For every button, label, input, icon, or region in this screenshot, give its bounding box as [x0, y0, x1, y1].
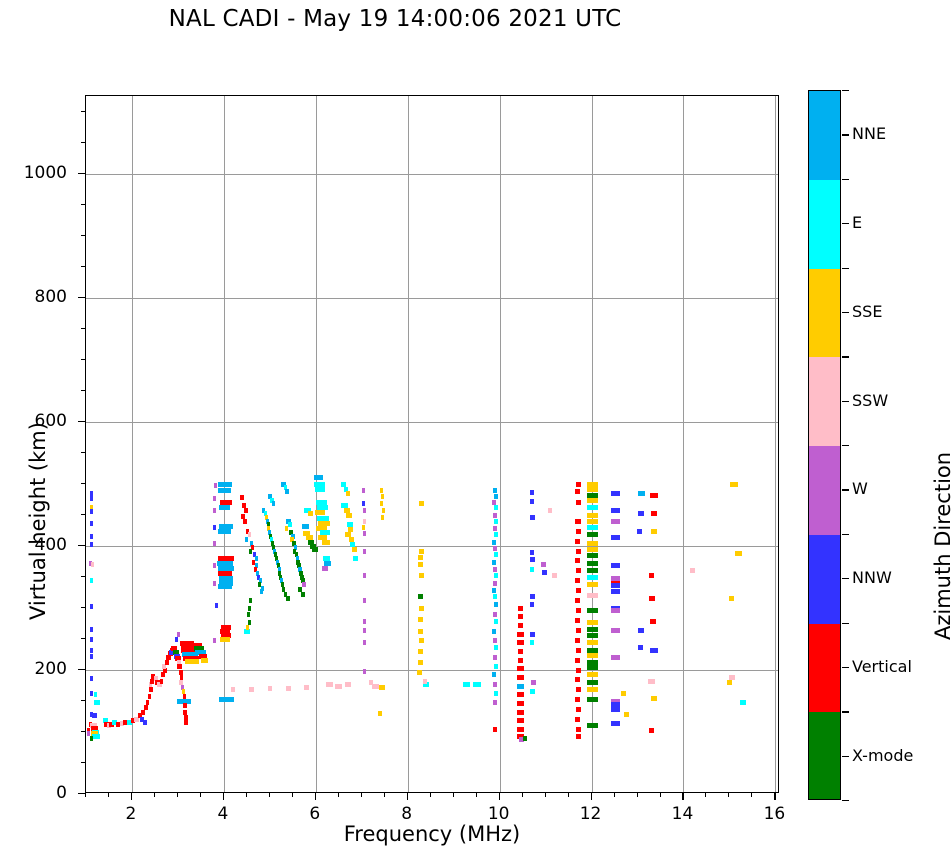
data-point	[493, 727, 497, 732]
y-tick-minor	[81, 142, 85, 143]
colorbar-label: Vertical	[852, 657, 912, 676]
data-point	[576, 707, 581, 712]
data-point	[740, 700, 746, 705]
data-point	[362, 488, 365, 493]
data-point	[94, 700, 100, 705]
data-point	[380, 488, 383, 493]
data-point	[494, 602, 498, 607]
x-tick-minor	[430, 793, 431, 797]
data-point	[244, 508, 248, 513]
data-point	[493, 638, 497, 643]
data-point	[144, 705, 148, 710]
data-point	[576, 648, 581, 653]
x-tick-major	[407, 793, 408, 800]
data-point	[587, 487, 597, 492]
data-point	[517, 684, 523, 689]
data-point	[146, 700, 150, 705]
data-point	[611, 589, 620, 594]
data-point	[735, 551, 741, 556]
data-point	[611, 535, 620, 540]
data-point	[363, 508, 366, 513]
data-point	[530, 499, 535, 504]
data-point	[493, 488, 497, 493]
data-point	[213, 508, 216, 513]
data-point	[322, 540, 330, 545]
data-point	[252, 560, 255, 565]
data-point	[494, 505, 498, 510]
data-point	[517, 675, 523, 680]
data-point	[611, 508, 620, 513]
data-point	[285, 526, 289, 531]
data-point	[378, 711, 383, 716]
data-layer	[86, 96, 778, 792]
data-point	[587, 723, 597, 728]
data-point	[493, 581, 497, 586]
data-point	[248, 606, 251, 611]
colorbar-label: SSW	[852, 391, 888, 410]
data-point	[727, 680, 733, 685]
x-tick-major	[223, 793, 224, 800]
colorbar-segment	[809, 712, 840, 800]
colorbar-tick	[842, 312, 849, 313]
data-point	[90, 534, 93, 539]
x-axis-title: Frequency (MHz)	[85, 822, 779, 846]
data-point	[518, 623, 524, 628]
data-point	[143, 720, 147, 725]
data-point	[148, 694, 152, 699]
data-point	[587, 532, 597, 537]
y-tick-minor	[81, 235, 85, 236]
data-point	[587, 541, 597, 546]
data-point	[285, 489, 289, 494]
data-point	[548, 508, 552, 513]
y-tick-minor	[81, 576, 85, 577]
x-tick-minor	[568, 793, 569, 797]
x-tick-major	[591, 793, 592, 800]
data-point	[213, 563, 216, 568]
data-point	[214, 483, 217, 488]
x-tick-minor	[522, 793, 523, 797]
data-point	[94, 692, 97, 697]
y-tick-minor	[81, 452, 85, 453]
x-tick-major	[774, 793, 775, 800]
data-point	[301, 592, 305, 597]
colorbar-segment	[809, 91, 840, 180]
data-point	[649, 596, 655, 601]
x-tick-minor	[660, 793, 661, 797]
x-tick-minor	[751, 793, 752, 797]
data-point	[418, 594, 423, 599]
colorbar-boundary-tick	[842, 534, 849, 535]
x-tick-minor	[292, 793, 293, 797]
x-tick-label: 2	[101, 804, 161, 824]
data-point	[288, 522, 292, 527]
data-point	[637, 529, 643, 534]
data-point	[493, 526, 497, 531]
data-point	[346, 513, 352, 518]
data-point	[587, 697, 597, 702]
data-point	[419, 638, 424, 643]
data-point	[575, 618, 580, 623]
x-tick-minor	[453, 793, 454, 797]
colorbar-label: X-mode	[852, 746, 913, 765]
data-point	[650, 648, 657, 653]
data-point	[220, 637, 230, 642]
data-point	[517, 692, 523, 697]
x-tick-minor	[705, 793, 706, 797]
data-point	[90, 496, 93, 501]
data-point	[518, 606, 524, 611]
data-point	[268, 686, 273, 691]
data-point	[248, 620, 251, 625]
data-point	[185, 659, 199, 664]
y-tick-minor	[81, 731, 85, 732]
data-point	[90, 676, 93, 681]
data-point	[322, 566, 328, 571]
data-point	[587, 575, 597, 580]
data-point	[149, 687, 153, 692]
data-point	[492, 588, 496, 593]
colorbar-segment	[809, 624, 840, 713]
x-tick-label: 8	[377, 804, 437, 824]
data-point	[531, 680, 536, 685]
data-point	[638, 491, 645, 496]
data-point	[576, 734, 581, 739]
data-point	[243, 519, 247, 524]
data-point	[352, 547, 357, 552]
data-point	[308, 511, 314, 516]
data-point	[494, 691, 498, 696]
data-point	[494, 645, 498, 650]
data-point	[218, 584, 232, 589]
data-point	[161, 672, 165, 677]
colorbar-tick	[842, 578, 849, 579]
data-point	[611, 608, 620, 613]
data-point	[302, 582, 306, 587]
data-point	[87, 731, 90, 736]
x-tick-minor	[728, 793, 729, 797]
data-point	[218, 488, 231, 493]
colorbar-label: NNE	[852, 124, 886, 143]
data-point	[611, 583, 620, 588]
data-point	[363, 519, 366, 524]
data-point	[492, 540, 496, 545]
data-point	[493, 700, 497, 705]
data-point	[345, 682, 351, 687]
data-point	[542, 570, 547, 575]
x-tick-minor	[614, 793, 615, 797]
data-point	[729, 596, 735, 601]
data-point	[587, 672, 597, 677]
data-point	[611, 721, 620, 726]
data-point	[363, 669, 366, 674]
data-point	[183, 703, 187, 708]
data-point	[423, 679, 428, 684]
data-point	[380, 501, 383, 506]
data-point	[611, 491, 620, 496]
data-point	[201, 658, 208, 663]
data-point	[530, 689, 535, 694]
x-tick-label: 16	[744, 804, 804, 824]
y-tick-label: 200	[7, 659, 67, 679]
colorbar-tick	[842, 489, 849, 490]
data-point	[177, 664, 182, 669]
data-point	[492, 672, 496, 677]
x-tick-major	[315, 793, 316, 800]
data-point	[492, 560, 496, 565]
data-point	[576, 668, 581, 673]
colorbar-boundary-tick	[842, 445, 849, 446]
data-point	[231, 687, 236, 692]
data-point	[175, 637, 178, 642]
data-point	[587, 505, 597, 510]
y-tick-label: 1000	[7, 163, 67, 183]
data-point	[530, 640, 535, 645]
data-point	[576, 687, 581, 692]
data-point	[494, 532, 498, 537]
colorbar-tick	[842, 401, 849, 402]
y-tick-label: 0	[7, 783, 67, 803]
data-point	[587, 553, 597, 558]
data-point	[213, 541, 216, 546]
data-point	[576, 500, 581, 505]
data-point	[419, 573, 424, 578]
colorbar-segment	[809, 180, 840, 269]
data-point	[587, 680, 597, 685]
data-point	[494, 664, 498, 669]
data-point	[587, 513, 597, 518]
data-point	[587, 665, 597, 670]
data-point	[247, 612, 250, 617]
data-point	[587, 627, 597, 632]
data-point	[575, 539, 580, 544]
data-point	[382, 508, 385, 513]
y-tick-major	[78, 793, 85, 794]
data-point	[245, 537, 248, 542]
y-tick-major	[78, 173, 85, 174]
data-point	[248, 532, 251, 537]
data-point	[690, 568, 696, 573]
x-tick-minor	[177, 793, 178, 797]
data-point	[312, 547, 318, 552]
data-point	[90, 521, 93, 526]
data-point	[362, 501, 365, 506]
colorbar-boundary-tick	[842, 356, 849, 357]
y-tick-major	[78, 545, 85, 546]
data-point	[249, 549, 252, 554]
data-point	[575, 558, 580, 563]
data-point	[213, 496, 216, 501]
data-point	[272, 501, 276, 506]
data-point	[493, 655, 497, 660]
data-point	[90, 654, 93, 659]
x-tick-label: 4	[193, 804, 253, 824]
y-tick-minor	[81, 607, 85, 608]
y-tick-minor	[81, 266, 85, 267]
x-tick-major	[682, 793, 683, 800]
data-point	[372, 684, 378, 689]
data-point	[517, 727, 523, 732]
x-tick-minor	[154, 793, 155, 797]
colorbar-boundary-tick	[842, 90, 849, 91]
data-point	[381, 494, 384, 499]
data-point	[576, 568, 581, 573]
data-point	[240, 495, 244, 500]
ionogram-figure: NAL CADI - May 19 14:00:06 2021 UTC 2468…	[0, 0, 951, 856]
data-point	[418, 660, 423, 665]
data-point	[494, 573, 498, 578]
y-tick-minor	[81, 359, 85, 360]
data-point	[530, 602, 535, 607]
data-point	[302, 524, 308, 529]
colorbar-tick	[842, 667, 849, 668]
plot-area	[85, 95, 779, 793]
data-point	[463, 682, 470, 687]
data-point	[90, 509, 93, 514]
data-point	[611, 628, 620, 633]
data-point	[576, 727, 581, 732]
x-tick-major	[131, 793, 132, 800]
data-point	[611, 655, 620, 660]
x-tick-label: 10	[469, 804, 529, 824]
colorbar-tick	[842, 756, 849, 757]
data-point	[650, 619, 656, 624]
data-point	[246, 625, 249, 630]
data-point	[363, 628, 366, 633]
x-tick-minor	[476, 793, 477, 797]
data-point	[575, 638, 580, 643]
y-axis-title: Virtual height (km)	[26, 422, 50, 620]
y-tick-minor	[81, 204, 85, 205]
x-tick-minor	[361, 793, 362, 797]
y-tick-minor	[81, 514, 85, 515]
x-tick-minor	[200, 793, 201, 797]
data-point	[362, 525, 365, 530]
data-point	[649, 573, 655, 578]
data-point	[587, 687, 597, 692]
data-point	[517, 666, 523, 671]
data-point	[379, 685, 385, 690]
data-point	[518, 614, 524, 619]
data-point	[381, 515, 384, 520]
data-point	[651, 696, 657, 701]
data-point	[315, 487, 325, 492]
colorbar-boundary-tick	[842, 711, 849, 712]
data-point	[517, 632, 523, 637]
x-tick-minor	[384, 793, 385, 797]
data-point	[363, 573, 366, 578]
colorbar-tick	[842, 134, 849, 135]
y-tick-major	[78, 421, 85, 422]
data-point	[335, 684, 342, 689]
x-tick-minor	[269, 793, 270, 797]
data-point	[363, 619, 366, 624]
data-point	[518, 658, 524, 663]
data-point	[611, 707, 620, 712]
data-point	[218, 482, 232, 487]
colorbar-title: Azimuth Direction	[931, 452, 951, 640]
data-point	[249, 687, 254, 692]
colorbar-segment	[809, 535, 840, 624]
data-point	[418, 649, 423, 654]
y-tick-minor	[81, 328, 85, 329]
data-point	[90, 542, 93, 547]
data-point	[419, 501, 425, 506]
data-point	[473, 682, 481, 687]
data-point	[165, 660, 169, 665]
data-point	[219, 697, 235, 702]
data-point	[177, 632, 180, 637]
data-point	[419, 549, 425, 554]
y-tick-minor	[81, 390, 85, 391]
data-point	[249, 598, 252, 603]
data-point	[90, 637, 93, 642]
data-point	[218, 529, 231, 534]
data-point	[90, 648, 93, 653]
data-point	[638, 645, 644, 650]
data-point	[90, 627, 93, 632]
data-point	[530, 550, 535, 555]
data-point	[575, 578, 580, 583]
data-point	[530, 632, 535, 637]
data-point	[518, 649, 524, 654]
data-point	[587, 498, 597, 503]
y-tick-minor	[81, 111, 85, 112]
data-point	[576, 482, 581, 487]
y-tick-minor	[81, 762, 85, 763]
colorbar-label: SSE	[852, 302, 882, 321]
colorbar-label: W	[852, 479, 868, 498]
data-point	[624, 712, 629, 717]
y-tick-major	[78, 297, 85, 298]
y-tick-major	[78, 669, 85, 670]
data-point	[587, 547, 597, 552]
data-point	[587, 582, 597, 587]
data-point	[353, 556, 358, 561]
data-point	[587, 640, 597, 645]
colorbar	[808, 90, 841, 800]
y-tick-label: 800	[7, 287, 67, 307]
data-point	[651, 511, 657, 516]
data-point	[494, 519, 498, 524]
data-point	[530, 515, 535, 520]
data-point	[493, 513, 497, 518]
colorbar-boundary-tick	[842, 179, 849, 180]
data-point	[363, 640, 366, 645]
data-point	[575, 658, 580, 663]
data-point	[363, 598, 366, 603]
data-point	[326, 682, 332, 687]
data-point	[650, 493, 657, 498]
data-point	[215, 603, 218, 608]
data-point	[576, 608, 581, 613]
data-point	[418, 562, 423, 567]
data-point	[587, 593, 597, 598]
data-point	[213, 525, 216, 530]
colorbar-segment	[809, 446, 840, 535]
data-point	[638, 511, 644, 516]
data-point	[90, 736, 93, 741]
data-point	[184, 720, 188, 725]
data-point	[90, 691, 93, 696]
data-point	[621, 691, 626, 696]
data-point	[418, 555, 423, 560]
data-point	[517, 640, 523, 645]
data-point	[141, 710, 145, 715]
colorbar-boundary-tick	[842, 268, 849, 269]
data-point	[160, 679, 164, 684]
data-point	[260, 589, 263, 594]
